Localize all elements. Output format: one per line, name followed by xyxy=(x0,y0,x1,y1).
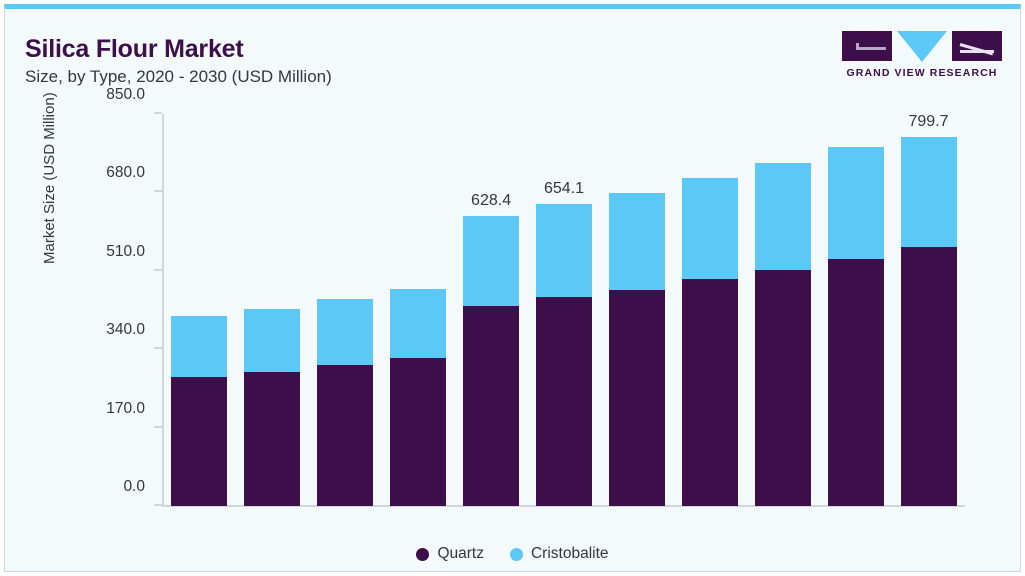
bar-segment-cristobalite[interactable] xyxy=(171,316,227,377)
bar-group-2029[interactable] xyxy=(828,147,884,506)
chart-card: Silica Flour Market Size, by Type, 2020 … xyxy=(4,4,1021,572)
bar-group-2026[interactable] xyxy=(609,193,665,506)
bar-segment-quartz[interactable] xyxy=(171,377,227,506)
plot-area: Market Size (USD Million) 0.0170.0340.05… xyxy=(163,114,965,506)
bar-segment-cristobalite[interactable] xyxy=(244,309,300,373)
bar-segment-quartz[interactable] xyxy=(463,306,519,506)
bar-segment-cristobalite[interactable] xyxy=(901,137,957,247)
bar-segment-quartz[interactable] xyxy=(536,297,592,506)
page-title: Silica Flour Market xyxy=(25,35,244,64)
chart-legend: QuartzCristobalite xyxy=(5,545,1020,563)
y-axis-tick xyxy=(154,269,162,271)
bar-segment-quartz[interactable] xyxy=(244,372,300,506)
bar-segment-quartz[interactable] xyxy=(390,358,446,506)
logo-text: GRAND VIEW RESEARCH xyxy=(842,67,1002,79)
y-axis-tick xyxy=(154,426,162,428)
bar-group-2020[interactable] xyxy=(171,316,227,506)
bar-value-label: 799.7 xyxy=(869,113,989,131)
bar-group-2028[interactable] xyxy=(755,163,811,506)
bar-group-2024[interactable]: 628.4 xyxy=(463,216,519,506)
bar-segment-cristobalite[interactable] xyxy=(390,289,446,357)
bar-segment-quartz[interactable] xyxy=(828,259,884,506)
bar-group-2027[interactable] xyxy=(682,178,738,506)
bar-segment-quartz[interactable] xyxy=(317,365,373,506)
logo-v-triangle-icon xyxy=(897,31,947,62)
logo-g-square-icon xyxy=(842,31,892,61)
legend-item-quartz[interactable]: Quartz xyxy=(416,545,484,563)
y-axis-tick xyxy=(154,190,162,192)
bar-segment-cristobalite[interactable] xyxy=(755,163,811,270)
bar-segment-quartz[interactable] xyxy=(901,247,957,506)
y-axis-tick-label: 510.0 xyxy=(25,243,145,261)
legend-label: Cristobalite xyxy=(531,545,609,563)
y-axis-tick-label: 680.0 xyxy=(25,164,145,182)
page-subtitle: Size, by Type, 2020 - 2030 (USD Million) xyxy=(25,67,332,87)
y-axis-tick xyxy=(154,504,162,506)
bar-segment-quartz[interactable] xyxy=(755,270,811,506)
legend-swatch-icon xyxy=(416,548,429,561)
y-axis-tick-label: 850.0 xyxy=(25,86,145,104)
brand-logo: GRAND VIEW RESEARCH xyxy=(842,31,1002,83)
bar-group-2030[interactable]: 799.7 xyxy=(901,137,957,506)
bar-group-2022[interactable] xyxy=(317,299,373,506)
bar-segment-cristobalite[interactable] xyxy=(536,204,592,297)
y-axis-tick xyxy=(154,112,162,114)
bar-segment-cristobalite[interactable] xyxy=(682,178,738,279)
bar-segment-cristobalite[interactable] xyxy=(828,147,884,259)
logo-marks xyxy=(842,31,1002,63)
bar-segment-cristobalite[interactable] xyxy=(463,216,519,305)
y-axis-tick xyxy=(154,347,162,349)
y-axis-tick-label: 0.0 xyxy=(25,478,145,496)
logo-r-square-icon xyxy=(952,31,1002,61)
bar-group-2021[interactable] xyxy=(244,309,300,506)
bar-segment-quartz[interactable] xyxy=(682,279,738,506)
legend-label: Quartz xyxy=(437,545,484,563)
bar-group-2023[interactable] xyxy=(390,289,446,506)
y-axis-tick-label: 170.0 xyxy=(25,400,145,418)
bar-value-label: 654.1 xyxy=(504,180,624,198)
legend-item-cristobalite[interactable]: Cristobalite xyxy=(510,545,609,563)
bar-segment-cristobalite[interactable] xyxy=(609,193,665,290)
y-axis-tick-label: 340.0 xyxy=(25,321,145,339)
bar-segment-quartz[interactable] xyxy=(609,290,665,506)
legend-swatch-icon xyxy=(510,548,523,561)
bar-group-2025[interactable]: 654.1 xyxy=(536,204,592,506)
bar-segment-cristobalite[interactable] xyxy=(317,299,373,365)
